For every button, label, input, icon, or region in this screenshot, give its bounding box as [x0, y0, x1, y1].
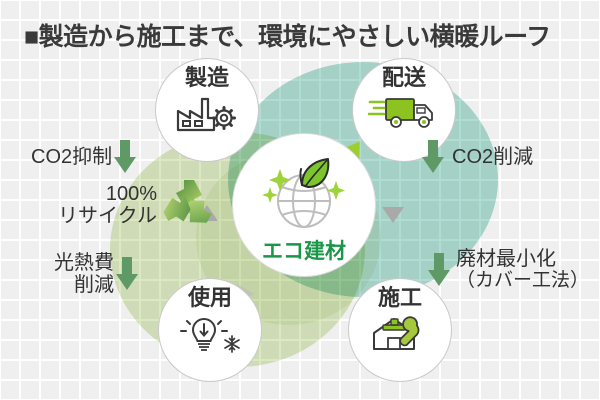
- lightbulb-snowflake-icon: [177, 313, 243, 355]
- down-arrow-icon: [428, 253, 450, 287]
- node-construct: 施工: [348, 278, 452, 382]
- eco-lifecycle-infographic: ■製造から施工まで、環境にやさしい横暖ルーフ 製造: [0, 0, 600, 400]
- annotation-utility-cost: 光熱費 削減: [54, 252, 138, 297]
- center-label: エコ建材: [262, 235, 346, 265]
- annotation-utility-line2: 削減: [74, 274, 114, 296]
- annotation-utility-line1: 光熱費: [54, 252, 114, 274]
- center-node-eco-material: エコ建材: [232, 133, 376, 277]
- node-manufacture: 製造: [155, 58, 259, 162]
- annotation-recycle-line1: 100%: [106, 183, 157, 205]
- down-arrow-icon: [114, 140, 136, 174]
- node-use: 使用: [158, 278, 262, 382]
- cycle-arrow-down-icon: [382, 207, 404, 223]
- recycle-icon: [157, 176, 219, 234]
- delivery-truck-icon: [368, 93, 440, 131]
- annotation-recycle-line2: リサイクル: [58, 205, 157, 227]
- down-arrow-icon: [422, 140, 444, 174]
- annotation-co2-suppress: CO2抑制: [31, 140, 136, 174]
- annotation-co2-reduce-label: CO2削減: [452, 146, 533, 168]
- node-construct-label: 施工: [378, 287, 422, 309]
- annotation-co2-reduce: CO2削減: [422, 140, 533, 174]
- down-arrow-icon: [116, 257, 138, 291]
- node-use-label: 使用: [188, 287, 232, 309]
- annotation-waste-minimize: 廃材最小化 （カバー工法）: [428, 248, 589, 292]
- factory-gear-icon: [174, 93, 240, 133]
- page-title: ■製造から施工まで、環境にやさしい横暖ルーフ: [24, 17, 551, 53]
- annotation-co2-suppress-label: CO2抑制: [31, 146, 112, 168]
- annotation-waste-line1: 廃材最小化: [456, 248, 556, 270]
- annotation-waste-line2: （カバー工法）: [456, 270, 589, 291]
- node-delivery-label: 配送: [382, 67, 426, 89]
- globe-leaf-icon: [252, 149, 356, 233]
- house-wrench-icon: [366, 313, 434, 353]
- annotation-recycle: 100% リサイクル: [58, 176, 219, 234]
- node-manufacture-label: 製造: [185, 67, 229, 89]
